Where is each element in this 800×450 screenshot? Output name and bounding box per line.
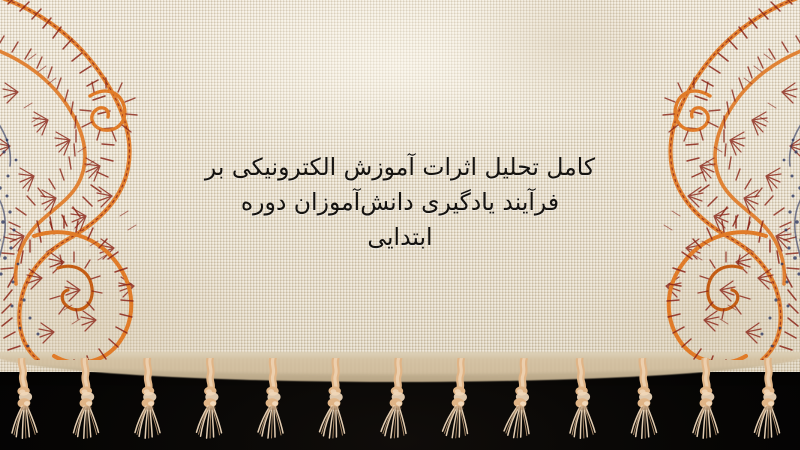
fringe-tassel xyxy=(193,358,229,450)
fringe-tassel xyxy=(68,357,107,450)
fringe-tassel xyxy=(256,358,290,450)
title-line-3: ابتدایی xyxy=(180,220,620,255)
fringe-tassel xyxy=(440,357,479,450)
fringe-tassel xyxy=(626,357,665,450)
fringe-tassel xyxy=(751,358,787,450)
title-line-2: فرآیند یادگیری دانش‌آموزان دوره xyxy=(180,185,620,220)
fringe-tassel xyxy=(317,358,353,450)
fringe-tassel xyxy=(5,357,45,450)
knotted-tassel-fringe xyxy=(0,358,800,450)
fringe-tassel xyxy=(130,357,167,450)
title-card-stage: کامل تحلیل اثرات آموزش الکترونیکی بر فرآ… xyxy=(0,0,800,450)
title-line-1: کامل تحلیل اثرات آموزش الکترونیکی بر xyxy=(180,150,620,185)
fringe-tassel xyxy=(688,357,725,450)
page-title: کامل تحلیل اثرات آموزش الکترونیکی بر فرآ… xyxy=(180,150,620,255)
fringe-tassel xyxy=(501,357,541,450)
fringe-tassel xyxy=(563,357,603,450)
fringe-tassel xyxy=(378,357,415,450)
